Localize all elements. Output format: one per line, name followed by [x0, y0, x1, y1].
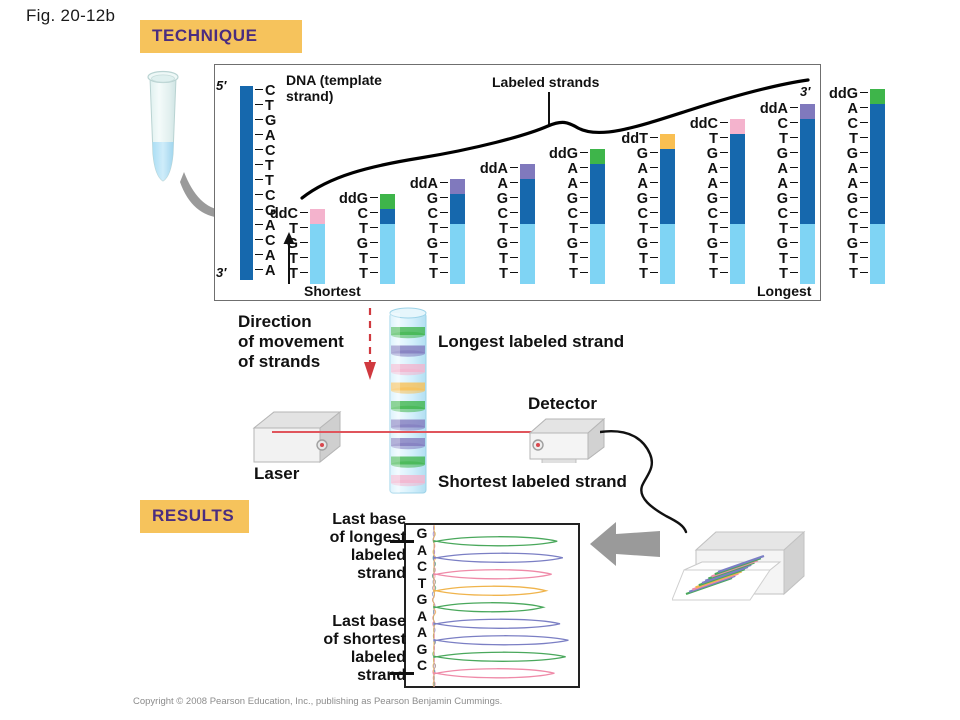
strand-base: T — [634, 266, 660, 282]
strand-base: G — [634, 191, 660, 207]
primer-segment — [450, 224, 465, 284]
primer-segment — [590, 224, 605, 284]
shortest-callout-leader — [390, 672, 414, 675]
strand-base: G — [774, 236, 800, 252]
terminator-label: ddG — [322, 191, 380, 207]
strand-base: T — [704, 251, 730, 267]
strand-base: A — [774, 161, 800, 177]
strand-base: T — [564, 266, 590, 282]
strand-base: A — [704, 161, 730, 177]
results-banner: RESULTS — [140, 500, 249, 533]
strand-base: G — [494, 191, 520, 207]
laser-beam — [272, 431, 534, 433]
detector-label: Detector — [528, 394, 597, 414]
strand-base: A — [844, 161, 870, 177]
chromatogram-peak — [434, 603, 543, 612]
terminator-segment — [310, 209, 325, 224]
strand-base: T — [774, 131, 800, 147]
strand-base: T — [704, 266, 730, 282]
primer-segment — [520, 224, 535, 284]
strand-base: G — [354, 236, 380, 252]
strand-base: G — [844, 236, 870, 252]
chromatogram-peak — [434, 586, 546, 595]
terminator-label: ddA — [742, 101, 800, 117]
extension-segment — [520, 179, 535, 224]
strand-base: G — [494, 236, 520, 252]
terminator-segment — [800, 104, 815, 119]
terminator-label: ddG — [532, 146, 590, 162]
strand-base: T — [284, 221, 310, 237]
strand-base: A — [564, 176, 590, 192]
strand-base: T — [284, 266, 310, 282]
direction-line-3: of strands — [238, 352, 344, 372]
strand-base: T — [284, 251, 310, 267]
strand-base: G — [634, 236, 660, 252]
extension-segment — [660, 149, 675, 224]
strand-base: T — [774, 221, 800, 237]
chromatogram-peak — [434, 553, 563, 562]
extension-segment — [730, 134, 745, 224]
strand-base: T — [634, 251, 660, 267]
terminator-segment — [450, 179, 465, 194]
strand-base: A — [634, 176, 660, 192]
strand-base: A — [564, 161, 590, 177]
chromatogram-peak — [434, 537, 557, 546]
movement-direction-arrow-icon — [362, 308, 378, 380]
strand-base: T — [354, 221, 380, 237]
extension-segment — [590, 164, 605, 224]
figure-number: Fig. 20-12b — [26, 6, 115, 26]
strand-base: C — [844, 116, 870, 132]
strand-base: C — [634, 206, 660, 222]
technique-banner: TECHNIQUE — [140, 20, 302, 53]
strand-base: T — [424, 251, 450, 267]
primer-segment — [660, 224, 675, 284]
terminator-segment — [380, 194, 395, 209]
extension-segment — [380, 209, 395, 224]
strand-base: T — [494, 221, 520, 237]
terminator-label: ddC — [672, 116, 730, 132]
detector-cable — [600, 410, 760, 535]
strand-base: G — [704, 146, 730, 162]
strand-base: T — [844, 221, 870, 237]
strand-base: G — [704, 236, 730, 252]
extension-segment — [870, 104, 885, 224]
strand-base: T — [844, 251, 870, 267]
strand-base: G — [774, 146, 800, 162]
strand-base: T — [774, 266, 800, 282]
terminator-segment — [730, 119, 745, 134]
strand-base: C — [424, 206, 450, 222]
longest-strand-callout: Last base of longest labeled strand — [298, 511, 406, 583]
terminator-label: ddT — [602, 131, 660, 147]
copyright-notice: Copyright © 2008 Pearson Education, Inc.… — [133, 696, 502, 707]
strand-base: G — [424, 236, 450, 252]
longest-callout-line-3: labeled — [298, 547, 406, 565]
terminator-label: ddC — [252, 206, 310, 222]
strand-base: T — [774, 251, 800, 267]
labeled-strand-ladder: TGTTddCCTGTTddGGCTGTTddAAGCTGTTddAAAGCTG… — [214, 64, 821, 301]
strand-base: T — [564, 251, 590, 267]
direction-of-movement-caption: Direction of movement of strands — [238, 312, 344, 372]
chromatogram-peak — [434, 636, 568, 645]
strand-base: C — [844, 206, 870, 222]
strand-base: T — [354, 251, 380, 267]
chromatogram-peak — [434, 570, 552, 579]
strand-base: A — [494, 176, 520, 192]
strand-base: G — [774, 191, 800, 207]
chromatogram-trace — [428, 523, 578, 688]
strand-base: T — [494, 251, 520, 267]
primer-segment — [380, 224, 395, 284]
longest-callout-line-4: strand — [298, 565, 406, 583]
strand-base: T — [494, 266, 520, 282]
shortest-callout-line-4: strand — [298, 667, 406, 685]
strand-base: C — [704, 206, 730, 222]
strand-base: C — [354, 206, 380, 222]
strand-base: A — [844, 176, 870, 192]
strand-base: C — [564, 206, 590, 222]
strand-base: A — [844, 101, 870, 117]
strand-base: C — [494, 206, 520, 222]
strand-base: A — [634, 161, 660, 177]
capillary-tube — [386, 305, 430, 497]
strand-base: G — [844, 191, 870, 207]
strand-base: A — [774, 176, 800, 192]
strand-base: T — [564, 221, 590, 237]
shortest-callout-line-2: of shortest — [298, 631, 406, 649]
strand-base: G — [634, 146, 660, 162]
laser-device — [252, 408, 342, 470]
strand-base: T — [844, 131, 870, 147]
strand-base: T — [354, 266, 380, 282]
terminator-label: ddA — [462, 161, 520, 177]
laser-label: Laser — [254, 464, 299, 484]
strand-base: A — [704, 176, 730, 192]
strand-base: C — [774, 116, 800, 132]
terminator-label: ddA — [392, 176, 450, 192]
shortest-callout-line-1: Last base — [298, 613, 406, 631]
extension-segment — [450, 194, 465, 224]
terminator-segment — [870, 89, 885, 104]
strand-base: G — [704, 191, 730, 207]
terminator-segment — [660, 134, 675, 149]
strand-base: T — [704, 221, 730, 237]
detector-device — [528, 415, 608, 463]
chromatogram-peak — [434, 652, 566, 661]
strand-base: G — [424, 191, 450, 207]
terminator-segment — [590, 149, 605, 164]
printer-device — [672, 520, 812, 602]
strand-base: T — [704, 131, 730, 147]
direction-line-2: of movement — [238, 332, 344, 352]
longest-callout-leader — [390, 540, 414, 543]
results-flow-arrow-icon — [590, 520, 660, 568]
terminator-segment — [520, 164, 535, 179]
strand-base: T — [424, 221, 450, 237]
longest-labeled-strand-caption: Longest labeled strand — [438, 332, 624, 352]
strand-base: T — [844, 266, 870, 282]
shortest-callout-line-3: labeled — [298, 649, 406, 667]
primer-segment — [310, 224, 325, 284]
strand-base: G — [844, 146, 870, 162]
primer-segment — [870, 224, 885, 284]
chromatogram-peak — [434, 619, 560, 628]
strand-base: G — [284, 236, 310, 252]
longest-callout-line-2: of longest — [298, 529, 406, 547]
strand-base: C — [774, 206, 800, 222]
primer-segment — [800, 224, 815, 284]
longest-callout-line-1: Last base — [298, 511, 406, 529]
direction-line-1: Direction — [238, 312, 344, 332]
extension-segment — [800, 119, 815, 224]
chromatogram-peak — [434, 669, 554, 678]
shortest-labeled-strand-caption: Shortest labeled strand — [438, 472, 627, 492]
strand-base: T — [634, 221, 660, 237]
strand-base: G — [564, 236, 590, 252]
strand-base: G — [564, 191, 590, 207]
primer-segment — [730, 224, 745, 284]
terminator-label: ddG — [812, 86, 870, 102]
strand-base: T — [424, 266, 450, 282]
